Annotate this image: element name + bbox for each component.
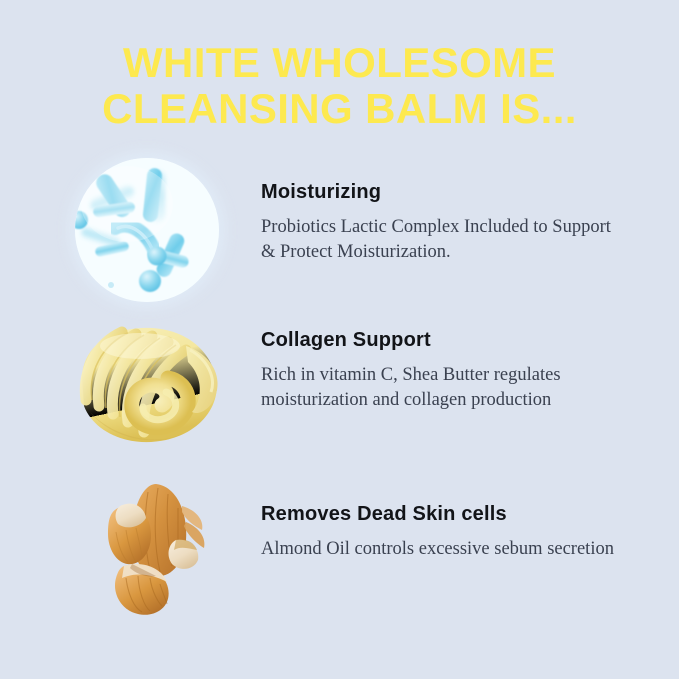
almonds-image <box>90 478 222 618</box>
product-benefits-infographic: WHITE WHOLESOME CLEANSING BALM IS... <box>0 0 679 679</box>
feature-icon-container <box>62 320 237 480</box>
feature-body: Rich in vitamin C, Shea Butter regulates… <box>261 363 621 413</box>
infographic-title: WHITE WHOLESOME CLEANSING BALM IS... <box>0 40 679 132</box>
title-line-1: WHITE WHOLESOME <box>0 40 679 86</box>
feature-body: Probiotics Lactic Complex Included to Su… <box>261 215 621 265</box>
feature-icon-container <box>62 158 237 318</box>
shea-butter-curl-image <box>70 320 230 452</box>
feature-heading: Collagen Support <box>261 328 621 352</box>
feature-text-container: Removes Dead Skin cells Almond Oil contr… <box>261 502 621 562</box>
feature-icon-container <box>62 478 237 638</box>
feature-body: Almond Oil controls excessive sebum secr… <box>261 537 621 562</box>
probiotics-bacteria-circle-image <box>75 158 219 302</box>
feature-heading: Moisturizing <box>261 180 621 204</box>
title-line-2: CLEANSING BALM IS... <box>0 86 679 132</box>
feature-heading: Removes Dead Skin cells <box>261 502 621 526</box>
feature-text-container: Moisturizing Probiotics Lactic Complex I… <box>261 180 621 265</box>
feature-text-container: Collagen Support Rich in vitamin C, Shea… <box>261 328 621 413</box>
